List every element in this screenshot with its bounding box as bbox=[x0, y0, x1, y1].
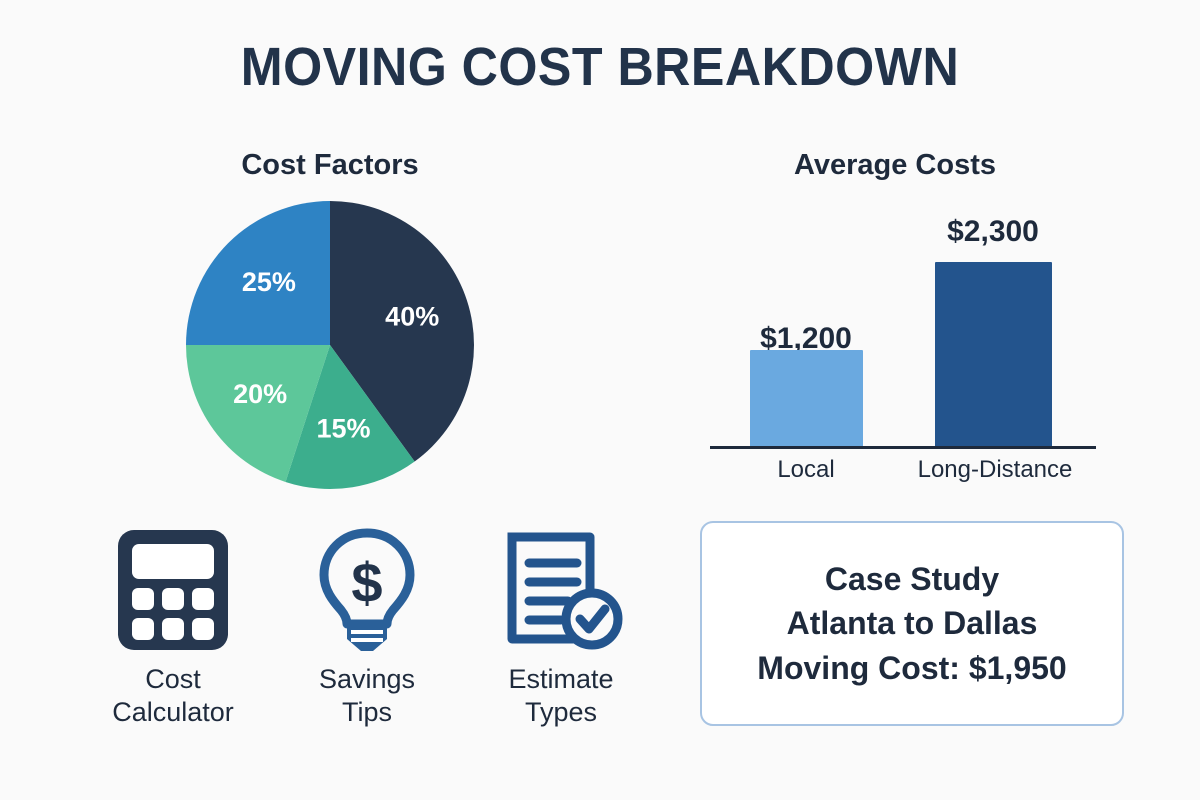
feature-cost-calculator: Cost Calculator bbox=[78, 525, 268, 729]
pie-slice-label: 15% bbox=[316, 413, 370, 443]
lightbulb-dollar-icon: $ bbox=[272, 525, 462, 655]
feature-savings-tips: $ Savings Tips bbox=[272, 525, 462, 729]
svg-text:$: $ bbox=[351, 551, 382, 614]
feature-label-cost-calculator: Cost Calculator bbox=[78, 663, 268, 729]
pie-slice-label: 25% bbox=[242, 267, 296, 297]
bar-long-distance bbox=[935, 262, 1052, 447]
feature-label-line1: Estimate bbox=[466, 663, 656, 696]
feature-label-line2: Types bbox=[466, 696, 656, 729]
pie-chart-heading: Cost Factors bbox=[120, 148, 540, 183]
bar-value-long-distance: $2,300 bbox=[898, 215, 1088, 249]
feature-label-estimate-types: Estimate Types bbox=[466, 663, 656, 729]
pie-chart-svg: 40%15%20%25% bbox=[185, 200, 475, 490]
infographic-canvas: MOVING COST BREAKDOWN Cost Factors 40%15… bbox=[0, 0, 1200, 800]
lightbulb-dollar-icon-svg: $ bbox=[315, 525, 419, 655]
feature-label-savings-tips: Savings Tips bbox=[272, 663, 462, 729]
case-study-route: Atlanta to Dallas bbox=[787, 602, 1038, 645]
calculator-icon-svg bbox=[114, 526, 232, 654]
feature-label-line1: Savings bbox=[272, 663, 462, 696]
case-study-title: Case Study bbox=[825, 558, 999, 601]
document-check-icon-svg bbox=[498, 527, 624, 653]
feature-estimate-types: Estimate Types bbox=[466, 525, 656, 729]
feature-label-line2: Tips bbox=[272, 696, 462, 729]
bar-category-long-distance: Long-Distance bbox=[890, 456, 1100, 484]
feature-label-line1: Cost bbox=[78, 663, 268, 696]
case-study-card: Case Study Atlanta to Dallas Moving Cost… bbox=[700, 521, 1124, 726]
pie-slice-label: 20% bbox=[233, 379, 287, 409]
bar-chart: $1,200 $2,300 Local Long-Distance bbox=[700, 200, 1100, 510]
bar-category-local: Local bbox=[746, 456, 866, 484]
case-study-cost: Moving Cost: $1,950 bbox=[757, 647, 1066, 690]
calculator-icon bbox=[78, 525, 268, 655]
pie-slice-label: 40% bbox=[385, 301, 439, 331]
feature-label-line2: Calculator bbox=[78, 696, 268, 729]
bar-chart-axis bbox=[710, 446, 1096, 449]
document-check-icon bbox=[466, 525, 656, 655]
pie-chart: 40%15%20%25% bbox=[185, 200, 475, 490]
bar-local bbox=[750, 350, 863, 447]
bar-chart-heading: Average Costs bbox=[680, 148, 1110, 183]
page-title: MOVING COST BREAKDOWN bbox=[42, 38, 1158, 97]
